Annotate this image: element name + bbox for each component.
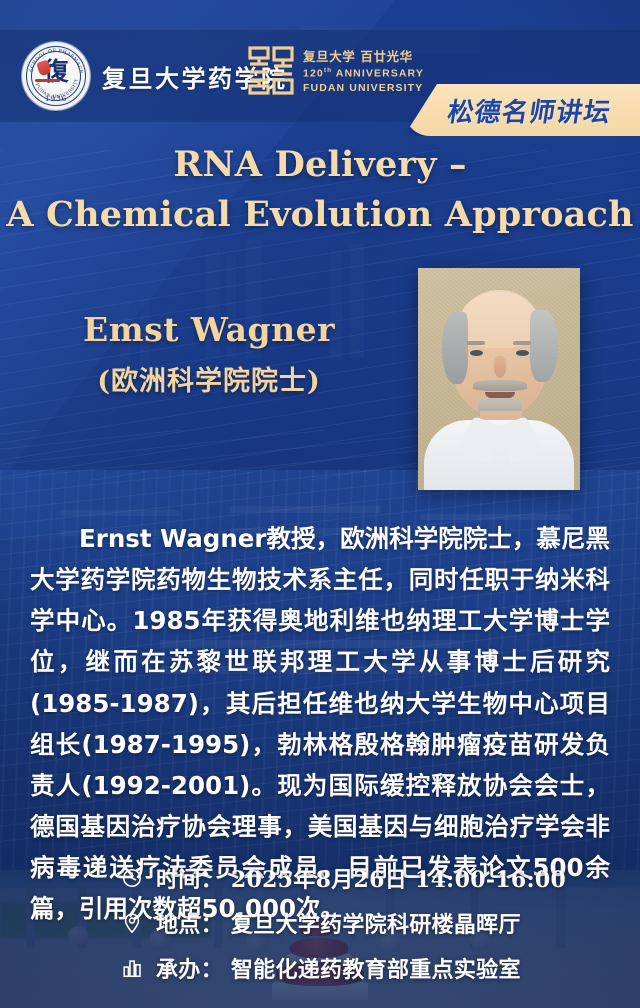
bar-chart-icon xyxy=(120,956,144,980)
seal-bar xyxy=(35,79,60,82)
anniversary-text-block: 复旦大学 百廿光华 120th ANNIVERSARY FUDAN UNIVER… xyxy=(303,46,424,94)
location-pin-icon xyxy=(120,911,144,935)
anniversary-logo-group: 复旦大学 百廿光华 120th ANNIVERSARY FUDAN UNIVER… xyxy=(248,44,424,96)
info-location-text: 地点： 复旦大学药学院科研楼晶晖厅 xyxy=(156,907,521,939)
anniversary-word: ANNIVERSARY xyxy=(332,68,424,80)
clock-icon xyxy=(120,866,144,890)
seal-year-label: 1936 xyxy=(22,94,90,103)
anniversary-number: 120 xyxy=(303,68,324,80)
speaker-portrait xyxy=(418,268,580,490)
anniversary-seal-icon xyxy=(248,44,294,96)
anniversary-cn-label: 复旦大学 百廿光华 xyxy=(303,46,424,65)
lecture-title: RNA Delivery – A Chemical Evolution Appr… xyxy=(0,140,640,239)
speaker-name: Emst Wagner xyxy=(18,310,400,349)
info-row-location: 地点： 复旦大学药学院科研楼晶晖厅 xyxy=(120,907,520,939)
anniversary-ordinal: th xyxy=(324,67,332,74)
anniversary-en-line2: FUDAN UNIVERSITY xyxy=(303,82,424,94)
lecture-title-line2: A Chemical Evolution Approach xyxy=(0,190,640,240)
series-ribbon-banner: 松德名师讲坛 xyxy=(404,84,640,136)
anniversary-en-line1: 120th ANNIVERSARY xyxy=(303,67,424,80)
university-seal-icon: SCHOOL OF PHARMACEUTICAL SCIENCES FUDAN … xyxy=(22,42,90,110)
poster-canvas: SCHOOL OF PHARMACEUTICAL SCIENCES FUDAN … xyxy=(0,0,640,1008)
info-time-text: 时间： 2025年8月26日 14:00-16:00 xyxy=(156,862,566,894)
speaker-block: Emst Wagner (欧洲科学院院士) xyxy=(18,310,400,398)
poster-header: SCHOOL OF PHARMACEUTICAL SCIENCES FUDAN … xyxy=(0,30,640,122)
lecture-title-line1: RNA Delivery – xyxy=(173,144,467,185)
info-organizer-text: 承办： 智能化递药教育部重点实验室 xyxy=(156,952,521,984)
event-info-block: 时间： 2025年8月26日 14:00-16:00 地点： 复旦大学药学院科研… xyxy=(0,862,640,984)
speaker-affiliation: (欧洲科学院院士) xyxy=(18,359,400,398)
info-row-time: 时间： 2025年8月26日 14:00-16:00 xyxy=(120,862,520,894)
info-row-organizer: 承办： 智能化递药教育部重点实验室 xyxy=(120,952,520,984)
series-ribbon-label: 松德名师讲坛 xyxy=(429,92,614,129)
